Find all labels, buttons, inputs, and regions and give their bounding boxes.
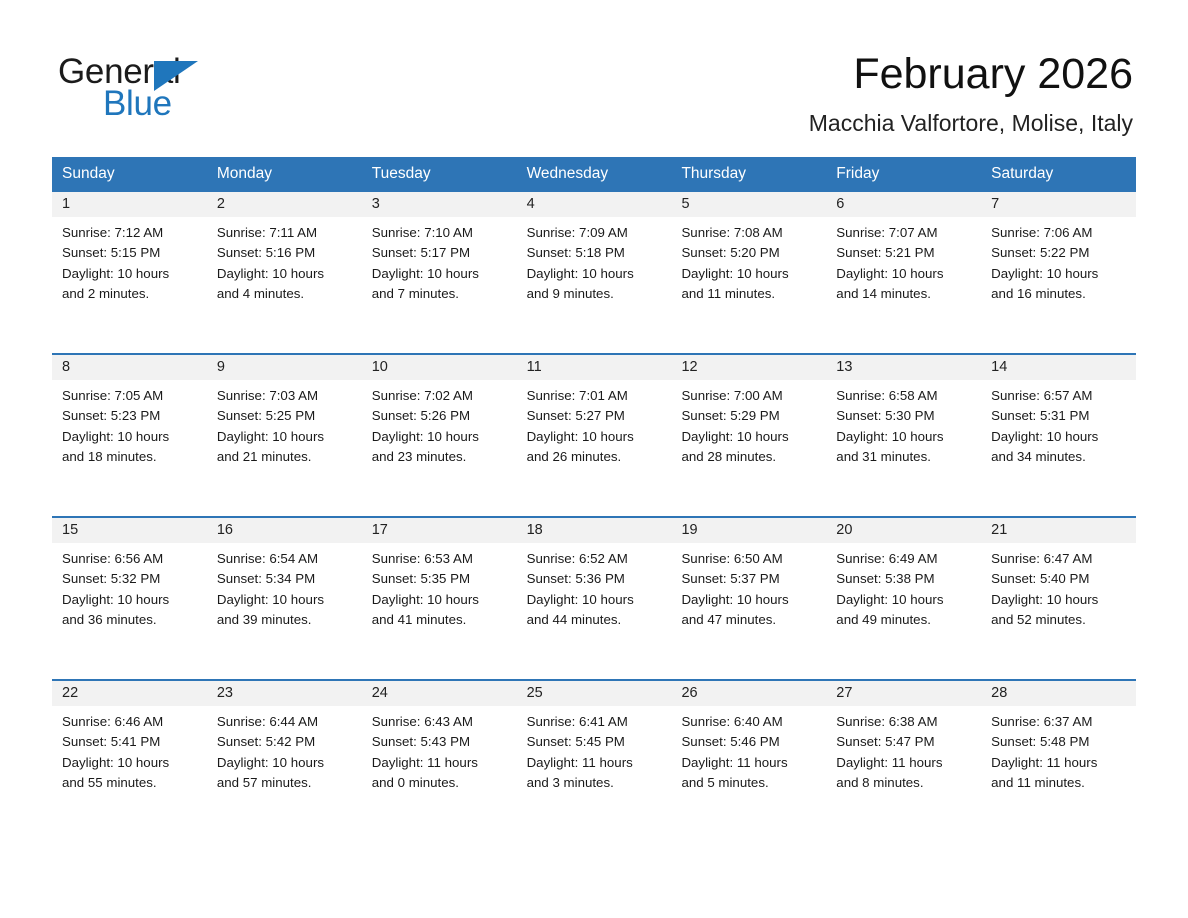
weekday-header-thursday: Thursday [671, 157, 826, 190]
daylight-text-line1: Daylight: 10 hours [991, 590, 1126, 610]
sunrise-text: Sunrise: 7:07 AM [836, 223, 971, 243]
calendar-week-row: 15 Sunrise: 6:56 AM Sunset: 5:32 PM Dayl… [52, 516, 1136, 679]
day-cell[interactable]: 18 Sunrise: 6:52 AM Sunset: 5:36 PM Dayl… [517, 518, 672, 679]
sunrise-text: Sunrise: 6:49 AM [836, 549, 971, 569]
day-cell[interactable]: 16 Sunrise: 6:54 AM Sunset: 5:34 PM Dayl… [207, 518, 362, 679]
calendar-week-row: 1 Sunrise: 7:12 AM Sunset: 5:15 PM Dayli… [52, 190, 1136, 353]
daylight-text-line1: Daylight: 10 hours [62, 753, 197, 773]
daylight-text-line1: Daylight: 11 hours [836, 753, 971, 773]
day-cell[interactable]: 17 Sunrise: 6:53 AM Sunset: 5:35 PM Dayl… [362, 518, 517, 679]
day-number: 8 [62, 359, 70, 375]
day-number-band: 13 [826, 355, 981, 380]
sunrise-text: Sunrise: 7:02 AM [372, 386, 507, 406]
day-cell[interactable]: 11 Sunrise: 7:01 AM Sunset: 5:27 PM Dayl… [517, 355, 672, 516]
weekday-header-tuesday: Tuesday [362, 157, 517, 190]
daylight-text-line2: and 34 minutes. [991, 447, 1126, 467]
day-number: 16 [217, 522, 233, 538]
day-number: 13 [836, 359, 852, 375]
day-number-band: 19 [671, 518, 826, 543]
calendar-grid: Sunday Monday Tuesday Wednesday Thursday… [52, 157, 1136, 842]
day-number-band: 12 [671, 355, 826, 380]
sunset-text: Sunset: 5:31 PM [991, 406, 1126, 426]
sunset-text: Sunset: 5:20 PM [681, 243, 816, 263]
day-details: Sunrise: 6:40 AM Sunset: 5:46 PM Dayligh… [671, 706, 826, 793]
sunset-text: Sunset: 5:37 PM [681, 569, 816, 589]
sunset-text: Sunset: 5:34 PM [217, 569, 352, 589]
day-details: Sunrise: 6:58 AM Sunset: 5:30 PM Dayligh… [826, 380, 981, 467]
day-number-band: 23 [207, 681, 362, 706]
sunrise-text: Sunrise: 6:56 AM [62, 549, 197, 569]
daylight-text-line1: Daylight: 10 hours [991, 427, 1126, 447]
weekday-header-monday: Monday [207, 157, 362, 190]
sunrise-text: Sunrise: 7:01 AM [527, 386, 662, 406]
daylight-text-line1: Daylight: 11 hours [372, 753, 507, 773]
day-number: 26 [681, 685, 697, 701]
day-number: 11 [527, 359, 542, 375]
day-cell[interactable]: 3 Sunrise: 7:10 AM Sunset: 5:17 PM Dayli… [362, 192, 517, 353]
daylight-text-line1: Daylight: 10 hours [372, 264, 507, 284]
daylight-text-line1: Daylight: 10 hours [991, 264, 1126, 284]
daylight-text-line2: and 9 minutes. [527, 284, 662, 304]
day-number-band: 6 [826, 192, 981, 217]
daylight-text-line2: and 5 minutes. [681, 773, 816, 793]
sunrise-text: Sunrise: 6:47 AM [991, 549, 1126, 569]
day-cell[interactable]: 2 Sunrise: 7:11 AM Sunset: 5:16 PM Dayli… [207, 192, 362, 353]
daylight-text-line2: and 0 minutes. [372, 773, 507, 793]
sunset-text: Sunset: 5:38 PM [836, 569, 971, 589]
day-number: 22 [62, 685, 78, 701]
day-cell[interactable]: 4 Sunrise: 7:09 AM Sunset: 5:18 PM Dayli… [517, 192, 672, 353]
daylight-text-line2: and 28 minutes. [681, 447, 816, 467]
page-title: February 2026 [809, 48, 1133, 100]
daylight-text-line1: Daylight: 10 hours [62, 427, 197, 447]
day-number: 23 [217, 685, 233, 701]
day-number-band: 24 [362, 681, 517, 706]
day-details: Sunrise: 6:52 AM Sunset: 5:36 PM Dayligh… [517, 543, 672, 630]
daylight-text-line1: Daylight: 10 hours [527, 590, 662, 610]
day-number-band: 5 [671, 192, 826, 217]
day-number: 17 [372, 522, 388, 538]
day-cell[interactable]: 23 Sunrise: 6:44 AM Sunset: 5:42 PM Dayl… [207, 681, 362, 842]
day-details: Sunrise: 7:11 AM Sunset: 5:16 PM Dayligh… [207, 217, 362, 304]
sunset-text: Sunset: 5:17 PM [372, 243, 507, 263]
daylight-text-line1: Daylight: 10 hours [836, 590, 971, 610]
page-subtitle-location: Macchia Valfortore, Molise, Italy [809, 109, 1133, 137]
sunrise-text: Sunrise: 6:57 AM [991, 386, 1126, 406]
daylight-text-line1: Daylight: 10 hours [681, 264, 816, 284]
day-cell[interactable]: 12 Sunrise: 7:00 AM Sunset: 5:29 PM Dayl… [671, 355, 826, 516]
sunset-text: Sunset: 5:16 PM [217, 243, 352, 263]
sunrise-text: Sunrise: 7:12 AM [62, 223, 197, 243]
daylight-text-line1: Daylight: 10 hours [62, 264, 197, 284]
daylight-text-line2: and 49 minutes. [836, 610, 971, 630]
daylight-text-line2: and 23 minutes. [372, 447, 507, 467]
day-cell[interactable]: 27 Sunrise: 6:38 AM Sunset: 5:47 PM Dayl… [826, 681, 981, 842]
daylight-text-line1: Daylight: 10 hours [836, 264, 971, 284]
day-number-band: 26 [671, 681, 826, 706]
day-cell[interactable]: 15 Sunrise: 6:56 AM Sunset: 5:32 PM Dayl… [52, 518, 207, 679]
day-number: 20 [836, 522, 852, 538]
day-details: Sunrise: 7:08 AM Sunset: 5:20 PM Dayligh… [671, 217, 826, 304]
day-number-band: 22 [52, 681, 207, 706]
sunset-text: Sunset: 5:42 PM [217, 732, 352, 752]
day-number: 19 [681, 522, 697, 538]
sunset-text: Sunset: 5:46 PM [681, 732, 816, 752]
sunset-text: Sunset: 5:15 PM [62, 243, 197, 263]
sunrise-text: Sunrise: 6:43 AM [372, 712, 507, 732]
sunset-text: Sunset: 5:47 PM [836, 732, 971, 752]
daylight-text-line1: Daylight: 11 hours [681, 753, 816, 773]
weekday-header-friday: Friday [826, 157, 981, 190]
day-details: Sunrise: 7:06 AM Sunset: 5:22 PM Dayligh… [981, 217, 1136, 304]
day-number: 5 [681, 196, 689, 212]
day-number-band: 18 [517, 518, 672, 543]
day-number-band: 16 [207, 518, 362, 543]
daylight-text-line2: and 21 minutes. [217, 447, 352, 467]
sunset-text: Sunset: 5:45 PM [527, 732, 662, 752]
daylight-text-line1: Daylight: 10 hours [681, 590, 816, 610]
day-details: Sunrise: 7:01 AM Sunset: 5:27 PM Dayligh… [517, 380, 672, 467]
sunrise-text: Sunrise: 7:08 AM [681, 223, 816, 243]
sunrise-text: Sunrise: 6:41 AM [527, 712, 662, 732]
day-cell[interactable]: 7 Sunrise: 7:06 AM Sunset: 5:22 PM Dayli… [981, 192, 1136, 353]
day-number-band: 1 [52, 192, 207, 217]
day-number-band: 3 [362, 192, 517, 217]
day-details: Sunrise: 7:03 AM Sunset: 5:25 PM Dayligh… [207, 380, 362, 467]
sunrise-text: Sunrise: 7:05 AM [62, 386, 197, 406]
sunrise-text: Sunrise: 6:37 AM [991, 712, 1126, 732]
day-details: Sunrise: 6:54 AM Sunset: 5:34 PM Dayligh… [207, 543, 362, 630]
sunset-text: Sunset: 5:30 PM [836, 406, 971, 426]
daylight-text-line1: Daylight: 10 hours [217, 427, 352, 447]
sunset-text: Sunset: 5:27 PM [527, 406, 662, 426]
sunrise-text: Sunrise: 7:00 AM [681, 386, 816, 406]
day-cell[interactable]: 26 Sunrise: 6:40 AM Sunset: 5:46 PM Dayl… [671, 681, 826, 842]
day-number-band: 10 [362, 355, 517, 380]
day-number: 18 [527, 522, 543, 538]
daylight-text-line1: Daylight: 10 hours [217, 753, 352, 773]
day-details: Sunrise: 6:37 AM Sunset: 5:48 PM Dayligh… [981, 706, 1136, 793]
daylight-text-line2: and 14 minutes. [836, 284, 971, 304]
day-details: Sunrise: 7:10 AM Sunset: 5:17 PM Dayligh… [362, 217, 517, 304]
day-details: Sunrise: 6:43 AM Sunset: 5:43 PM Dayligh… [362, 706, 517, 793]
sunrise-text: Sunrise: 6:53 AM [372, 549, 507, 569]
day-number: 14 [991, 359, 1007, 375]
sunrise-text: Sunrise: 7:06 AM [991, 223, 1126, 243]
day-number: 6 [836, 196, 844, 212]
daylight-text-line2: and 4 minutes. [217, 284, 352, 304]
sunrise-text: Sunrise: 6:44 AM [217, 712, 352, 732]
daylight-text-line2: and 39 minutes. [217, 610, 352, 630]
day-number: 24 [372, 685, 388, 701]
day-details: Sunrise: 6:56 AM Sunset: 5:32 PM Dayligh… [52, 543, 207, 630]
day-cell[interactable]: 21 Sunrise: 6:47 AM Sunset: 5:40 PM Dayl… [981, 518, 1136, 679]
day-details: Sunrise: 7:07 AM Sunset: 5:21 PM Dayligh… [826, 217, 981, 304]
daylight-text-line2: and 8 minutes. [836, 773, 971, 793]
day-number: 3 [372, 196, 380, 212]
day-cell[interactable]: 25 Sunrise: 6:41 AM Sunset: 5:45 PM Dayl… [517, 681, 672, 842]
day-details: Sunrise: 6:47 AM Sunset: 5:40 PM Dayligh… [981, 543, 1136, 630]
day-cell[interactable]: 24 Sunrise: 6:43 AM Sunset: 5:43 PM Dayl… [362, 681, 517, 842]
sunset-text: Sunset: 5:29 PM [681, 406, 816, 426]
day-number: 21 [991, 522, 1007, 538]
day-details: Sunrise: 6:57 AM Sunset: 5:31 PM Dayligh… [981, 380, 1136, 467]
day-cell[interactable]: 1 Sunrise: 7:12 AM Sunset: 5:15 PM Dayli… [52, 192, 207, 353]
day-cell[interactable]: 8 Sunrise: 7:05 AM Sunset: 5:23 PM Dayli… [52, 355, 207, 516]
day-details: Sunrise: 7:00 AM Sunset: 5:29 PM Dayligh… [671, 380, 826, 467]
day-number: 27 [836, 685, 852, 701]
daylight-text-line1: Daylight: 10 hours [527, 427, 662, 447]
sunrise-text: Sunrise: 7:10 AM [372, 223, 507, 243]
day-cell[interactable]: 20 Sunrise: 6:49 AM Sunset: 5:38 PM Dayl… [826, 518, 981, 679]
sunset-text: Sunset: 5:25 PM [217, 406, 352, 426]
day-number-band: 15 [52, 518, 207, 543]
day-number: 25 [527, 685, 543, 701]
daylight-text-line2: and 44 minutes. [527, 610, 662, 630]
daylight-text-line1: Daylight: 10 hours [217, 590, 352, 610]
day-number-band: 21 [981, 518, 1136, 543]
day-number-band: 2 [207, 192, 362, 217]
daylight-text-line1: Daylight: 10 hours [62, 590, 197, 610]
daylight-text-line2: and 7 minutes. [372, 284, 507, 304]
day-number: 7 [991, 196, 999, 212]
day-number-band: 8 [52, 355, 207, 380]
daylight-text-line1: Daylight: 10 hours [836, 427, 971, 447]
day-details: Sunrise: 7:02 AM Sunset: 5:26 PM Dayligh… [362, 380, 517, 467]
weekday-header-row: Sunday Monday Tuesday Wednesday Thursday… [52, 157, 1136, 190]
sunset-text: Sunset: 5:36 PM [527, 569, 662, 589]
daylight-text-line2: and 36 minutes. [62, 610, 197, 630]
day-number-band: 14 [981, 355, 1136, 380]
day-number: 2 [217, 196, 225, 212]
day-cell[interactable]: 28 Sunrise: 6:37 AM Sunset: 5:48 PM Dayl… [981, 681, 1136, 842]
day-number-band: 17 [362, 518, 517, 543]
daylight-text-line2: and 47 minutes. [681, 610, 816, 630]
sunset-text: Sunset: 5:35 PM [372, 569, 507, 589]
day-cell[interactable]: 5 Sunrise: 7:08 AM Sunset: 5:20 PM Dayli… [671, 192, 826, 353]
sunrise-text: Sunrise: 6:58 AM [836, 386, 971, 406]
daylight-text-line1: Daylight: 11 hours [991, 753, 1126, 773]
day-details: Sunrise: 6:50 AM Sunset: 5:37 PM Dayligh… [671, 543, 826, 630]
day-cell[interactable]: 9 Sunrise: 7:03 AM Sunset: 5:25 PM Dayli… [207, 355, 362, 516]
daylight-text-line1: Daylight: 10 hours [527, 264, 662, 284]
sunrise-text: Sunrise: 7:09 AM [527, 223, 662, 243]
day-details: Sunrise: 6:46 AM Sunset: 5:41 PM Dayligh… [52, 706, 207, 793]
day-details: Sunrise: 6:41 AM Sunset: 5:45 PM Dayligh… [517, 706, 672, 793]
sunset-text: Sunset: 5:43 PM [372, 732, 507, 752]
day-cell[interactable]: 6 Sunrise: 7:07 AM Sunset: 5:21 PM Dayli… [826, 192, 981, 353]
day-number: 15 [62, 522, 78, 538]
day-number-band: 4 [517, 192, 672, 217]
sunset-text: Sunset: 5:32 PM [62, 569, 197, 589]
daylight-text-line2: and 3 minutes. [527, 773, 662, 793]
day-number-band: 11 [517, 355, 672, 380]
sunrise-text: Sunrise: 6:50 AM [681, 549, 816, 569]
daylight-text-line1: Daylight: 10 hours [681, 427, 816, 447]
sunrise-text: Sunrise: 7:11 AM [217, 223, 352, 243]
sunset-text: Sunset: 5:41 PM [62, 732, 197, 752]
day-details: Sunrise: 6:44 AM Sunset: 5:42 PM Dayligh… [207, 706, 362, 793]
sunset-text: Sunset: 5:40 PM [991, 569, 1126, 589]
sunset-text: Sunset: 5:48 PM [991, 732, 1126, 752]
daylight-text-line2: and 55 minutes. [62, 773, 197, 793]
day-number-band: 7 [981, 192, 1136, 217]
day-number: 10 [372, 359, 388, 375]
day-number: 28 [991, 685, 1007, 701]
daylight-text-line2: and 26 minutes. [527, 447, 662, 467]
sunrise-text: Sunrise: 6:46 AM [62, 712, 197, 732]
daylight-text-line2: and 11 minutes. [681, 284, 816, 304]
daylight-text-line1: Daylight: 10 hours [372, 590, 507, 610]
day-cell[interactable]: 14 Sunrise: 6:57 AM Sunset: 5:31 PM Dayl… [981, 355, 1136, 516]
daylight-text-line1: Daylight: 10 hours [217, 264, 352, 284]
daylight-text-line1: Daylight: 11 hours [527, 753, 662, 773]
daylight-text-line2: and 57 minutes. [217, 773, 352, 793]
day-cell[interactable]: 10 Sunrise: 7:02 AM Sunset: 5:26 PM Dayl… [362, 355, 517, 516]
day-number: 9 [217, 359, 225, 375]
generalblue-logo[interactable]: General Blue [58, 52, 318, 126]
day-details: Sunrise: 7:12 AM Sunset: 5:15 PM Dayligh… [52, 217, 207, 304]
daylight-text-line1: Daylight: 10 hours [372, 427, 507, 447]
sunrise-text: Sunrise: 6:38 AM [836, 712, 971, 732]
day-cell[interactable]: 19 Sunrise: 6:50 AM Sunset: 5:37 PM Dayl… [671, 518, 826, 679]
day-details: Sunrise: 6:38 AM Sunset: 5:47 PM Dayligh… [826, 706, 981, 793]
day-details: Sunrise: 6:53 AM Sunset: 5:35 PM Dayligh… [362, 543, 517, 630]
sunset-text: Sunset: 5:22 PM [991, 243, 1126, 263]
sunrise-text: Sunrise: 6:54 AM [217, 549, 352, 569]
daylight-text-line2: and 52 minutes. [991, 610, 1126, 630]
day-details: Sunrise: 7:05 AM Sunset: 5:23 PM Dayligh… [52, 380, 207, 467]
daylight-text-line2: and 41 minutes. [372, 610, 507, 630]
sunrise-text: Sunrise: 6:40 AM [681, 712, 816, 732]
daylight-text-line2: and 31 minutes. [836, 447, 971, 467]
sunset-text: Sunset: 5:18 PM [527, 243, 662, 263]
weekday-header-wednesday: Wednesday [517, 157, 672, 190]
day-number-band: 9 [207, 355, 362, 380]
calendar-week-row: 22 Sunrise: 6:46 AM Sunset: 5:41 PM Dayl… [52, 679, 1136, 842]
weekday-header-sunday: Sunday [52, 157, 207, 190]
daylight-text-line2: and 18 minutes. [62, 447, 197, 467]
day-number: 1 [62, 196, 70, 212]
daylight-text-line2: and 16 minutes. [991, 284, 1126, 304]
day-number-band: 28 [981, 681, 1136, 706]
day-details: Sunrise: 7:09 AM Sunset: 5:18 PM Dayligh… [517, 217, 672, 304]
sunrise-text: Sunrise: 6:52 AM [527, 549, 662, 569]
sunset-text: Sunset: 5:23 PM [62, 406, 197, 426]
sunset-text: Sunset: 5:26 PM [372, 406, 507, 426]
day-number-band: 27 [826, 681, 981, 706]
title-block: February 2026 Macchia Valfortore, Molise… [809, 48, 1133, 137]
calendar-page: General Blue February 2026 Macchia Valfo… [0, 0, 1188, 918]
weekday-header-saturday: Saturday [981, 157, 1136, 190]
day-number: 4 [527, 196, 535, 212]
day-number-band: 20 [826, 518, 981, 543]
calendar-week-row: 8 Sunrise: 7:05 AM Sunset: 5:23 PM Dayli… [52, 353, 1136, 516]
daylight-text-line2: and 11 minutes. [991, 773, 1126, 793]
day-cell[interactable]: 13 Sunrise: 6:58 AM Sunset: 5:30 PM Dayl… [826, 355, 981, 516]
page-header: General Blue February 2026 Macchia Valfo… [0, 0, 1188, 150]
day-details: Sunrise: 6:49 AM Sunset: 5:38 PM Dayligh… [826, 543, 981, 630]
day-cell[interactable]: 22 Sunrise: 6:46 AM Sunset: 5:41 PM Dayl… [52, 681, 207, 842]
sunset-text: Sunset: 5:21 PM [836, 243, 971, 263]
logo-text-blue: Blue [103, 84, 172, 124]
daylight-text-line2: and 2 minutes. [62, 284, 197, 304]
day-number-band: 25 [517, 681, 672, 706]
day-number: 12 [681, 359, 697, 375]
sunrise-text: Sunrise: 7:03 AM [217, 386, 352, 406]
